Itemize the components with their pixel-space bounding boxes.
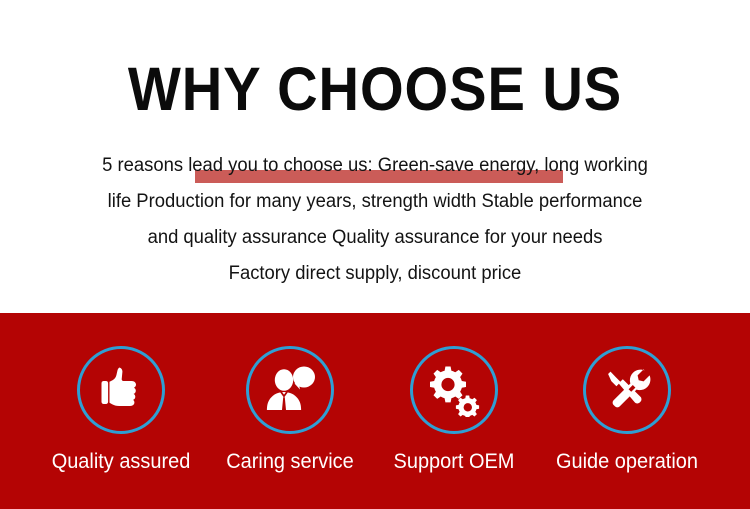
feature-label: Support OEM xyxy=(369,448,540,476)
intro-line: and quality assurance Quality assurance … xyxy=(11,220,739,256)
intro-section: WHY CHOOSE US 5 reasons lead you to choo… xyxy=(0,0,750,313)
wrench-screwdriver-icon xyxy=(583,346,671,434)
feature-item-guide-operation[interactable]: Guide operation xyxy=(537,313,717,509)
feature-label: Guide operation xyxy=(542,448,713,476)
features-section: Quality assured xyxy=(0,313,750,509)
thumbs-up-icon xyxy=(77,346,165,434)
features-row: Quality assured xyxy=(0,313,750,509)
intro-line: life Production for many years, strength… xyxy=(11,184,739,220)
feature-item-support-oem[interactable]: Support OEM xyxy=(364,313,544,509)
feature-item-caring-service[interactable]: Caring service xyxy=(200,313,380,509)
feature-label: Quality assured xyxy=(36,448,207,476)
page-title: WHY CHOOSE US xyxy=(30,56,720,122)
intro-line: 5 reasons lead you to choose us: Green-s… xyxy=(11,148,739,184)
customer-service-person-icon xyxy=(246,346,334,434)
feature-label: Caring service xyxy=(205,448,376,476)
gears-icon xyxy=(410,346,498,434)
feature-item-quality-assured[interactable]: Quality assured xyxy=(31,313,211,509)
intro-paragraph: 5 reasons lead you to choose us: Green-s… xyxy=(0,148,750,292)
intro-line: Factory direct supply, discount price xyxy=(11,256,739,292)
why-choose-us-banner: WHY CHOOSE US 5 reasons lead you to choo… xyxy=(0,0,750,509)
